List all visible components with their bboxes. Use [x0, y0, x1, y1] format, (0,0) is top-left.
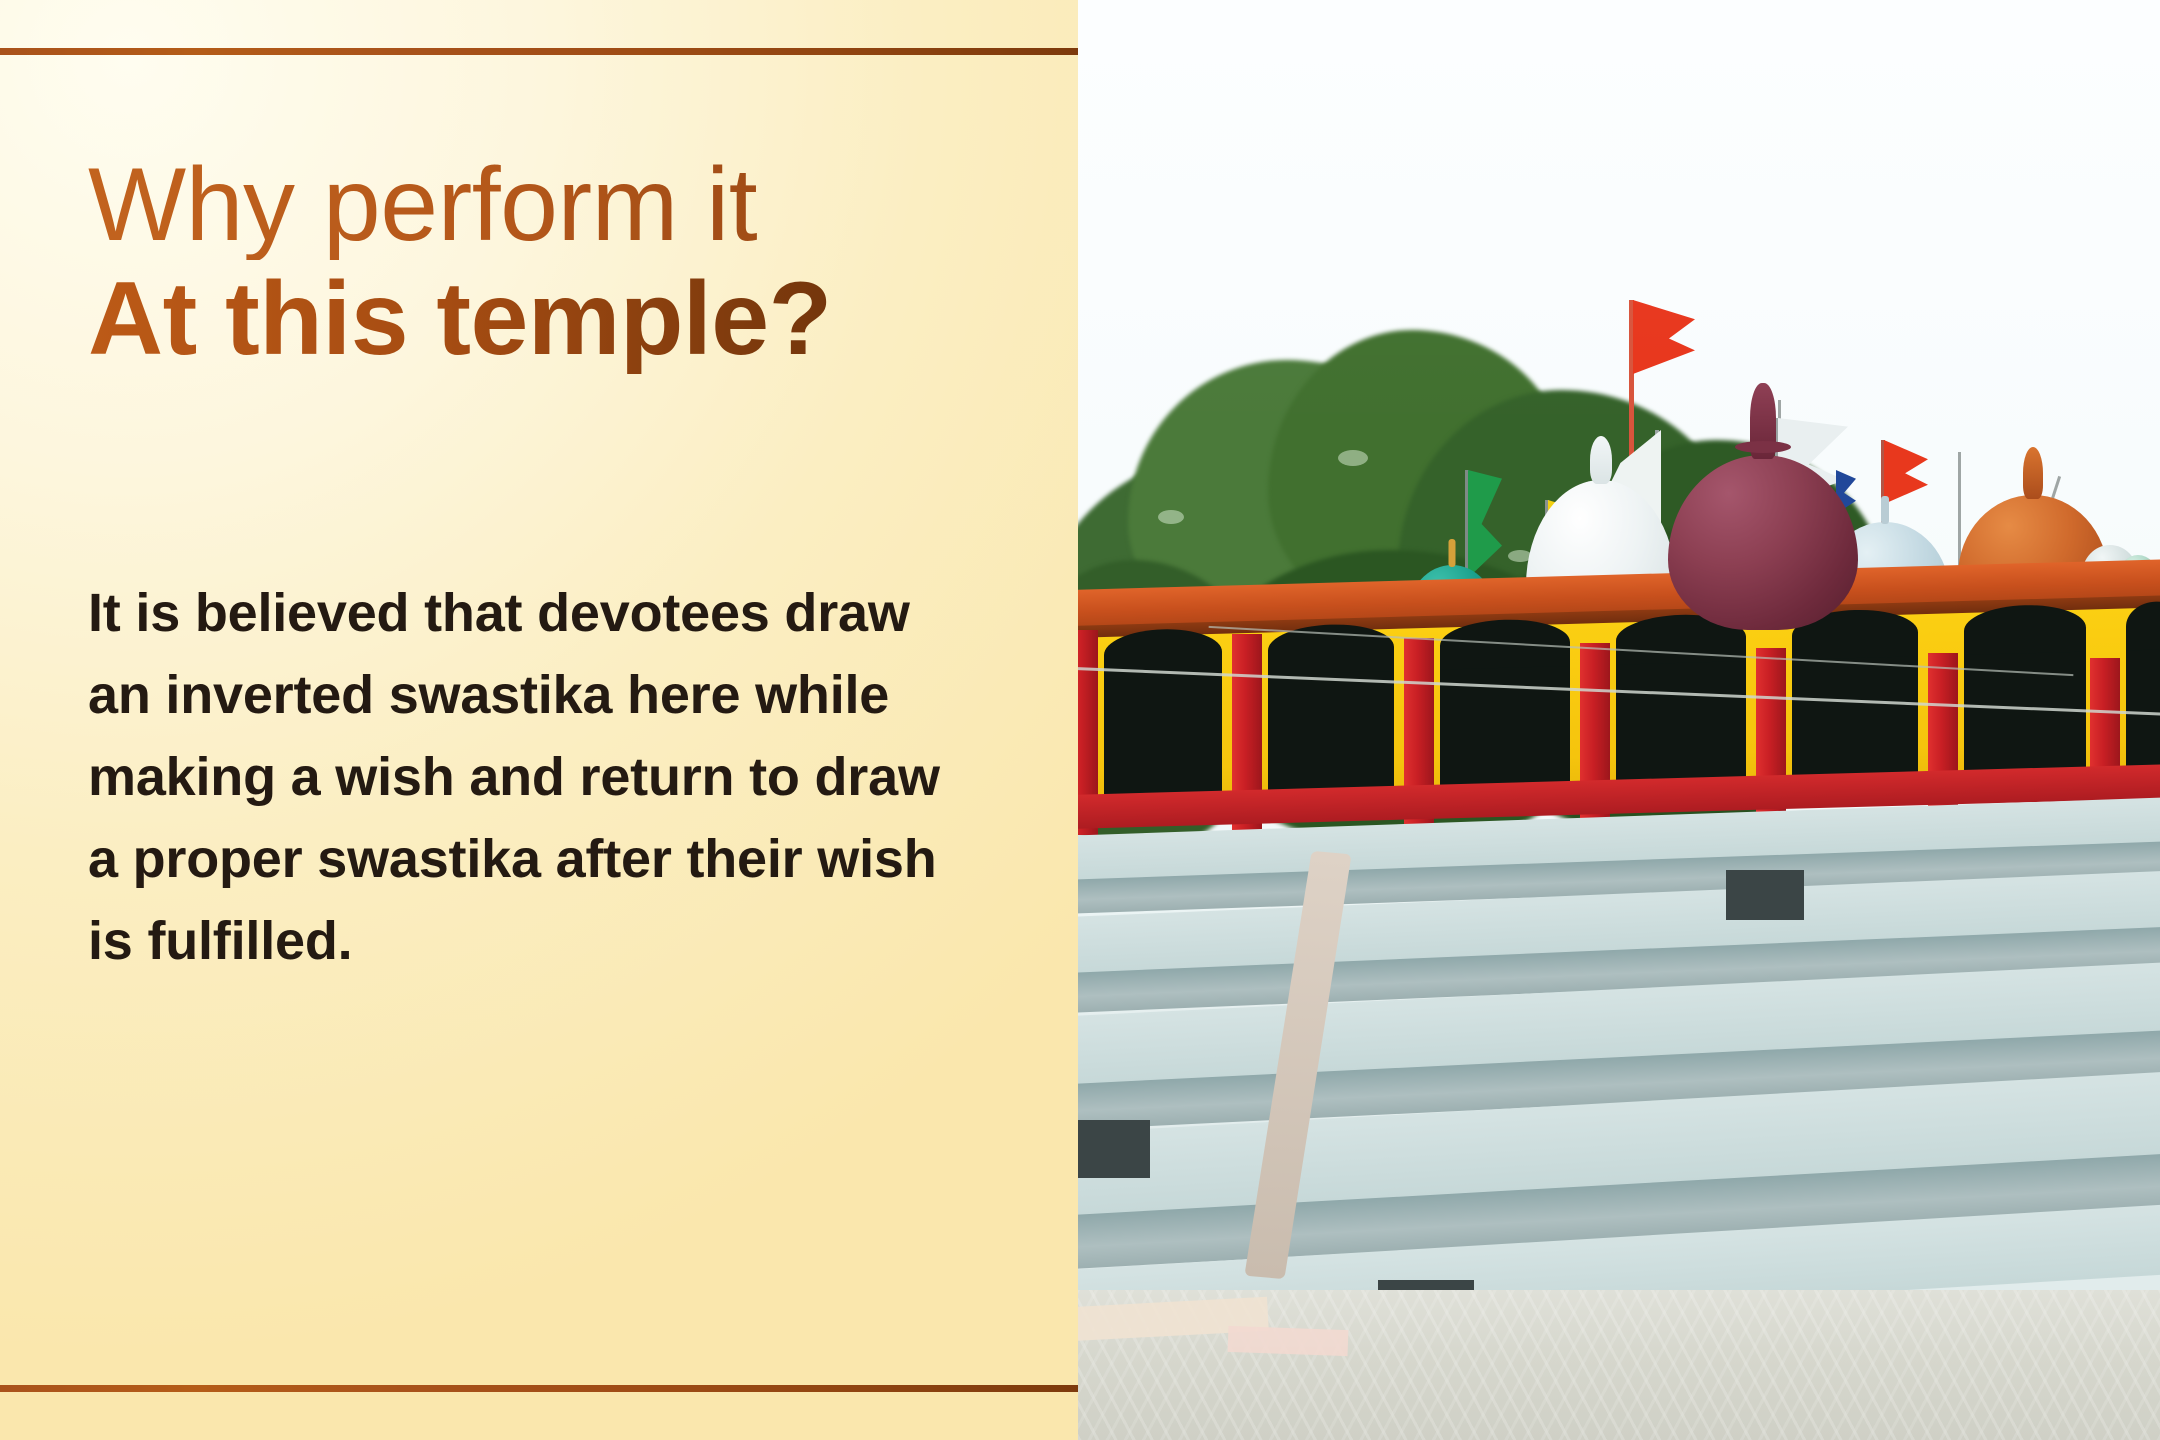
divider-top — [0, 48, 1078, 55]
step-recess — [1078, 1120, 1150, 1178]
flag-cloth — [1468, 470, 1502, 578]
leaf-highlight — [1338, 450, 1368, 466]
red-flag-small — [1884, 440, 1928, 504]
text-panel-inner: Why perform it At this temple? It is bel… — [0, 0, 1078, 1440]
dome-finial — [1590, 436, 1612, 484]
headline-line-2: At this temple? — [88, 264, 1018, 374]
flag-cloth — [1884, 440, 1928, 504]
dome-finial — [1881, 496, 1889, 524]
temple-photo — [1078, 0, 2160, 1440]
temple-arch — [1792, 632, 1918, 788]
red-flag-tall — [1633, 300, 1695, 374]
body-paragraph: It is believed that devotees draw an inv… — [88, 572, 968, 982]
headline-line-1: Why perform it — [88, 150, 1018, 260]
temple-arch — [2126, 625, 2160, 779]
divider-bottom — [0, 1385, 1078, 1392]
dome-bulb — [1668, 455, 1858, 630]
maroon-dome — [1668, 455, 1858, 630]
temple-steps — [1078, 810, 2160, 1440]
text-panel: Why perform it At this temple? It is bel… — [0, 0, 1078, 1440]
dome-ring — [1735, 441, 1791, 453]
leaf-highlight — [1158, 510, 1184, 524]
temple-arch — [1616, 637, 1746, 793]
temple-photo-scene — [1078, 0, 2160, 1440]
flag-cloth — [1633, 300, 1695, 374]
temple-arch — [1268, 647, 1394, 803]
temple-arch — [1440, 642, 1570, 798]
ground-debris — [1228, 1326, 1349, 1356]
page-title: Why perform it At this temple? — [88, 150, 1018, 374]
slide-root: Why perform it At this temple? It is bel… — [0, 0, 2160, 1440]
dome-finial — [1449, 539, 1456, 567]
dome-finial — [2023, 447, 2043, 499]
step-recess — [1726, 870, 1804, 920]
green-flag — [1468, 470, 1502, 578]
